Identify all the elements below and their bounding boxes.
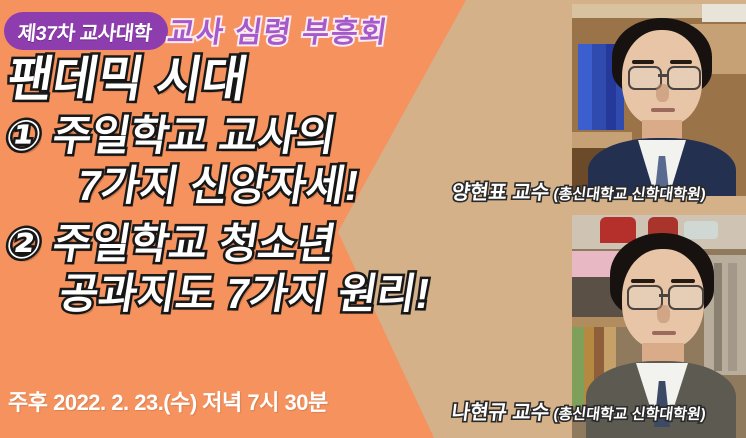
headline-block: 팬데믹 시대 ① 주일학교 교사의 7가지 신앙자세! ② 주일학교 청소년 공… bbox=[0, 56, 470, 315]
speaker-2-name: 나현규 교수 bbox=[450, 402, 550, 424]
speaker-2-caption: 나현규 교수 (총신대학교 신학대학원) bbox=[450, 396, 708, 425]
headline-line-2: ① 주일학교 교사의 bbox=[3, 115, 474, 157]
headline-line-5: 공과지도 7가지 원리! bbox=[57, 273, 474, 315]
headline-line-1: 팬데믹 시대 bbox=[4, 56, 474, 105]
speaker-1-caption: 양현표 교수 (총신대학교 신학대학원) bbox=[450, 176, 708, 205]
headline-line-4: ② 주일학교 청소년 bbox=[3, 223, 474, 265]
session-badge: 제37차 교사대학 bbox=[4, 12, 168, 50]
speaker-2-affiliation: (총신대학교 신학대학원) bbox=[552, 406, 706, 423]
session-badge-label: 제37차 교사대학 bbox=[16, 17, 153, 46]
poster-subtitle: 교사 심령 부흥회 bbox=[165, 9, 392, 51]
event-datetime: 주후 2022. 2. 23.(수) 저녁 7시 30분 bbox=[8, 385, 328, 417]
event-poster: 제37차 교사대학 교사 심령 부흥회 팬데믹 시대 ① 주일학교 교사의 7가… bbox=[0, 0, 746, 438]
speaker-1-name: 양현표 교수 bbox=[450, 182, 550, 204]
speaker-1-affiliation: (총신대학교 신학대학원) bbox=[552, 186, 706, 203]
headline-line-3: 7가지 신앙자세! bbox=[75, 165, 474, 207]
speaker-photo-1-artwork bbox=[572, 4, 746, 196]
speaker-photo-1 bbox=[572, 4, 746, 196]
